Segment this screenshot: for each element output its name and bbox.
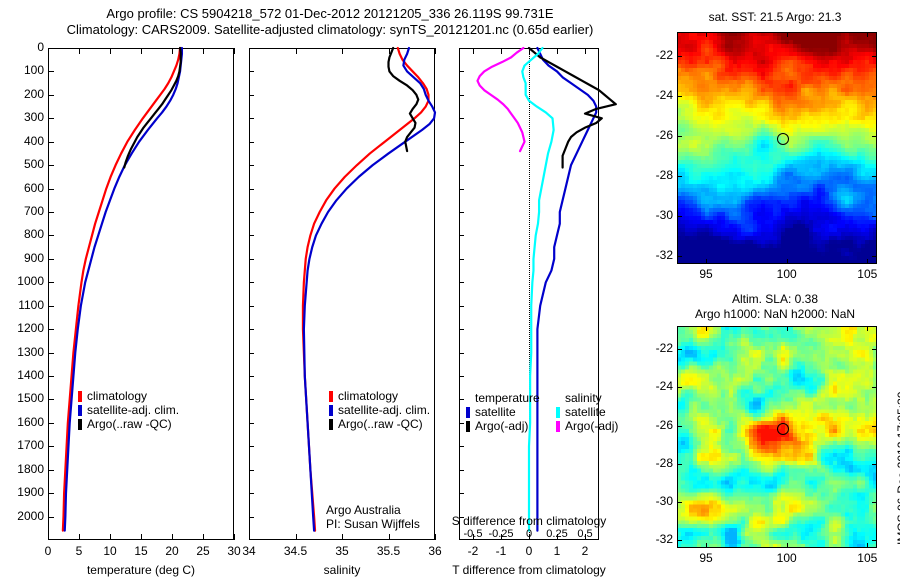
sla-map-title-line1: Altim. SLA: 0.38 [655,292,895,307]
sst-map-xtick-label: 105 [847,267,887,281]
argo-credit-line2: PI: Susan Wijffels [326,517,420,531]
salinity-xtick-top [435,48,436,54]
sst-map-ytick-label: -22 [642,48,673,62]
temperature-xaxis-label: temperature (deg C) [48,563,234,577]
argo-credit: Argo Australia PI: Susan Wijffels [326,503,420,531]
sla-map-ytick-label: -32 [642,532,673,546]
sst-map-ytick-label: -28 [642,168,673,182]
temperature-legend: climatologysatellite-adj. clim.Argo(..ra… [78,389,179,431]
temperature-legend-swatch [78,419,82,430]
difference-legend-temperature-items: satelliteArgo(-adj) [466,405,540,433]
difference-legend-salinity-item: satellite [556,405,618,419]
salinity-legend-swatch [329,391,333,402]
sla-map-xtick-label: 105 [847,551,887,565]
depth-tick-label: 2000 [4,509,44,523]
temperature-legend-swatch [78,391,82,402]
temperature-xtick [234,534,235,540]
sla-map-title-line2: Argo h1000: NaN h2000: NaN [655,307,895,322]
difference-legend-salinity-item: Argo(-adj) [556,419,618,433]
temperature-xtick-label: 5 [59,544,99,558]
sst-map-axes [677,32,877,264]
depth-tick-label: 1600 [4,415,44,429]
temperature-xtick-label: 0 [28,544,68,558]
depth-tick-label: 100 [4,63,44,77]
temperature-xtick-label: 30 [214,544,254,558]
sst-map-ytick-label: -24 [642,88,673,102]
depth-tick-label: 200 [4,87,44,101]
temperature-profile-curves [48,48,234,540]
depth-tick-label: 1000 [4,274,44,288]
depth-tick-label: 900 [4,251,44,265]
difference-legend-salinity-swatch [556,407,560,418]
salinity-legend-label: Argo(..raw -QC) [338,417,423,431]
salinity-xtick-label: 35.5 [364,544,414,558]
depth-tick-label: 700 [4,204,44,218]
sla-map-ytick-label: -22 [642,341,673,355]
temperature-legend-item: satellite-adj. clim. [78,403,179,417]
salinity-xtick-label: 34.5 [271,544,321,558]
figure-title-line2: Climatology: CARS2009. Satellite-adjuste… [0,22,660,38]
difference-legend-temperature-title: temperature [475,391,540,405]
sla-map-ytick-label: -28 [642,456,673,470]
difference-legend-temperature-item: Argo(-adj) [466,419,540,433]
difference-legend-temperature-label: satellite [475,405,516,419]
salinity-legend-item: Argo(..raw -QC) [329,417,430,431]
difference-legend-temperature-label: Argo(-adj) [475,419,528,433]
depth-tick-label: 1100 [4,298,44,312]
salinity-xtick [435,534,436,540]
difference-bottom-xtick-label: 1 [537,544,577,558]
difference-legend-salinity-label: Argo(-adj) [565,419,618,433]
salinity-legend: climatologysatellite-adj. clim.Argo(..ra… [329,389,430,431]
difference-bottom-xtick-label: 2 [565,544,605,558]
salinity-legend-swatch [329,405,333,416]
sla-map-title: Altim. SLA: 0.38 Argo h1000: NaN h2000: … [655,292,895,322]
difference-legend-salinity-title: salinity [565,391,618,405]
difference-legend-salinity-items: satelliteArgo(-adj) [556,405,618,433]
salinity-xtick-label: 34 [224,544,274,558]
difference-legend-salinity-swatch [556,421,560,432]
sla-map-ytick-label: -26 [642,418,673,432]
sst-map-xtick-label: 100 [767,267,807,281]
salinity-xaxis-label: salinity [249,563,435,577]
temperature-legend-label: satellite-adj. clim. [87,403,179,417]
depth-tick-label: 600 [4,181,44,195]
difference-top-xaxis-label: S difference from climatology [449,514,609,528]
salinity-legend-label: satellite-adj. clim. [338,403,430,417]
argo-credit-line1: Argo Australia [326,503,420,517]
temperature-legend-label: Argo(..raw -QC) [87,417,172,431]
difference-bottom-xtick-label: -2 [453,544,493,558]
depth-tick-label: 0 [4,40,44,54]
temperature-xtick-label: 20 [152,544,192,558]
salinity-xtick-label: 36 [410,544,460,558]
figure-title-line1: Argo profile: CS 5904218_572 01-Dec-2012… [0,6,660,22]
difference-bottom-xaxis-label: T difference from climatology [449,563,609,577]
difference-legend-salinity-label: satellite [565,405,606,419]
depth-tick-label: 400 [4,134,44,148]
difference-legend-temperature-item: satellite [466,405,540,419]
figure-title: Argo profile: CS 5904218_572 01-Dec-2012… [0,6,660,38]
depth-tick-label: 1200 [4,321,44,335]
depth-tick-label: 1300 [4,345,44,359]
difference-legend-temperature-swatch [466,421,470,432]
temperature-legend-label: climatology [87,389,147,403]
sst-map-xtick-label: 95 [686,267,726,281]
depth-tick-label: 1400 [4,368,44,382]
depth-tick-label: 300 [4,110,44,124]
difference-bottom-xtick-label: -1 [481,544,521,558]
temperature-legend-swatch [78,405,82,416]
difference-bottom-xtick-label: 0 [509,544,549,558]
difference-legend-temperature: temperature satelliteArgo(-adj) [466,391,540,433]
depth-tick-label: 1700 [4,438,44,452]
depth-tick-label: 1800 [4,462,44,476]
difference-legend-temperature-swatch [466,407,470,418]
sla-map-ytick-label: -24 [642,379,673,393]
salinity-profile-curves [249,48,435,540]
sla-map-ytick-label: -30 [642,494,673,508]
salinity-xtick-label: 35 [317,544,367,558]
sst-map-ytick-label: -32 [642,248,673,262]
depth-tick-label: 1500 [4,391,44,405]
sst-map-title: sat. SST: 21.5 Argo: 21.3 [660,10,890,25]
difference-profile-curves [459,48,599,540]
salinity-legend-swatch [329,419,333,430]
depth-tick-label: 1900 [4,485,44,499]
temperature-legend-item: climatology [78,389,179,403]
temperature-xtick-label: 10 [90,544,130,558]
imos-timestamp: IMOS 06-Dec-2012 17:05:30 [895,392,900,545]
temperature-xtick-label: 15 [121,544,161,558]
sla-map-xtick-label: 100 [767,551,807,565]
temperature-xtick-label: 25 [183,544,223,558]
figure-canvas: Argo profile: CS 5904218_572 01-Dec-2012… [0,0,900,580]
salinity-legend-label: climatology [338,389,398,403]
sla-map-xtick-label: 95 [686,551,726,565]
sst-map-ytick-label: -30 [642,208,673,222]
sst-map-ytick-label: -26 [642,128,673,142]
temperature-legend-item: Argo(..raw -QC) [78,417,179,431]
sla-map-axes [677,326,877,548]
salinity-legend-item: climatology [329,389,430,403]
depth-tick-label: 500 [4,157,44,171]
depth-tick-label: 800 [4,227,44,241]
difference-legend-salinity: salinity satelliteArgo(-adj) [556,391,618,433]
salinity-legend-item: satellite-adj. clim. [329,403,430,417]
temperature-xtick-top [234,48,235,54]
